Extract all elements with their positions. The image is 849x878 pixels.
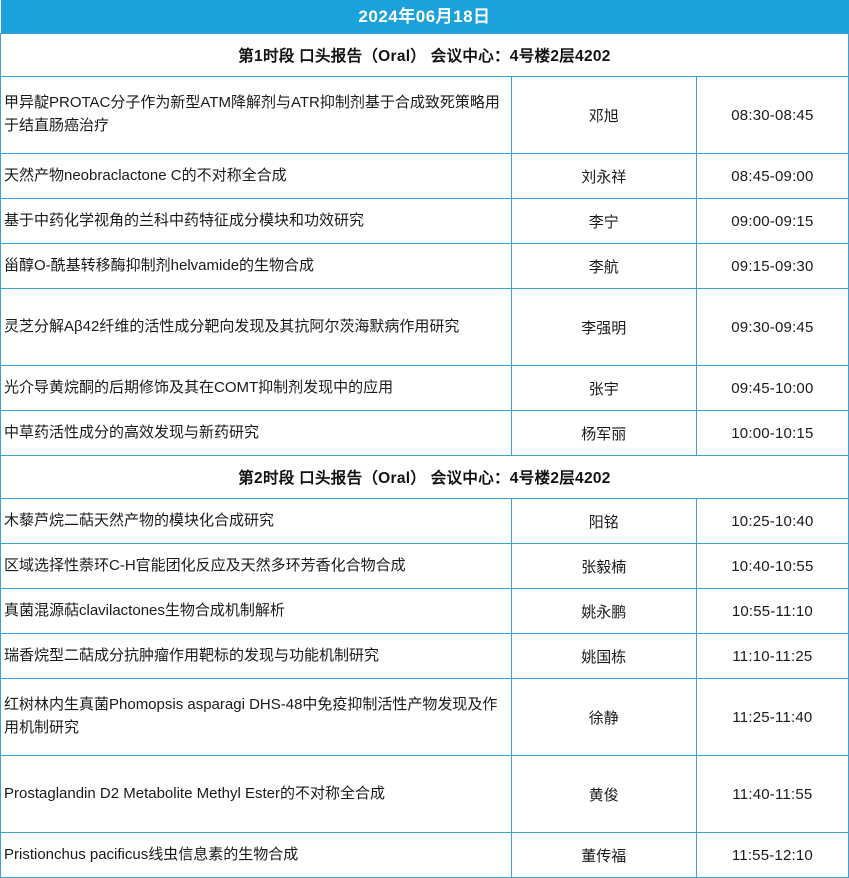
table-row: 灵芝分解Aβ42纤维的活性成分靶向发现及其抗阿尔茨海默病作用研究李强明09:30… — [1, 289, 849, 366]
talk-title-cell: 光介导黄烷酮的后期修饰及其在COMT抑制剂发现中的应用 — [1, 366, 512, 411]
table-row: 甾醇O-酰基转移酶抑制剂helvamide的生物合成李航09:15-09:30 — [1, 244, 849, 289]
table-row: 红树林内生真菌Phomopsis asparagi DHS-48中免疫抑制活性产… — [1, 679, 849, 756]
time-slot-cell: 10:00-10:15 — [696, 411, 848, 456]
talk-title-cell: Pristionchus pacificus线虫信息素的生物合成 — [1, 833, 512, 878]
table-row: 基于中药化学视角的兰科中药特征成分模块和功效研究李宁09:00-09:15 — [1, 199, 849, 244]
speaker-name-cell: 黄俊 — [511, 756, 696, 833]
speaker-name-cell: 姚国栋 — [511, 634, 696, 679]
table-row: 瑞香烷型二萜成分抗肿瘤作用靶标的发现与功能机制研究姚国栋11:10-11:25 — [1, 634, 849, 679]
speaker-name-cell: 邓旭 — [511, 77, 696, 154]
schedule-body: 2024年06月18日 第1时段 口头报告（Oral） 会议中心：4号楼2层42… — [1, 0, 849, 878]
time-slot-cell: 11:55-12:10 — [696, 833, 848, 878]
table-row: 甲异靛PROTAC分子作为新型ATM降解剂与ATR抑制剂基于合成致死策略用于结直… — [1, 77, 849, 154]
speaker-name-cell: 徐静 — [511, 679, 696, 756]
time-slot-cell: 09:45-10:00 — [696, 366, 848, 411]
time-slot-cell: 08:45-09:00 — [696, 154, 848, 199]
talk-title-cell: 真菌混源萜clavilactones生物合成机制解析 — [1, 589, 512, 634]
speaker-name-cell: 李航 — [511, 244, 696, 289]
time-slot-cell: 10:25-10:40 — [696, 499, 848, 544]
date-banner-row: 2024年06月18日 — [1, 0, 849, 34]
table-row: 真菌混源萜clavilactones生物合成机制解析姚永鹏10:55-11:10 — [1, 589, 849, 634]
time-slot-cell: 10:40-10:55 — [696, 544, 848, 589]
talk-title-cell: 瑞香烷型二萜成分抗肿瘤作用靶标的发现与功能机制研究 — [1, 634, 512, 679]
time-slot-cell: 10:55-11:10 — [696, 589, 848, 634]
time-slot-cell: 08:30-08:45 — [696, 77, 848, 154]
talk-title-cell: 灵芝分解Aβ42纤维的活性成分靶向发现及其抗阿尔茨海默病作用研究 — [1, 289, 512, 366]
speaker-name-cell: 姚永鹏 — [511, 589, 696, 634]
talk-title-cell: 中草药活性成分的高效发现与新药研究 — [1, 411, 512, 456]
table-row: 区域选择性萘环C-H官能团化反应及天然多环芳香化合物合成张毅楠10:40-10:… — [1, 544, 849, 589]
time-slot-cell: 09:15-09:30 — [696, 244, 848, 289]
session-header-label: 第1时段 口头报告（Oral） 会议中心：4号楼2层4202 — [1, 34, 849, 77]
speaker-name-cell: 张宇 — [511, 366, 696, 411]
talk-title-cell: 红树林内生真菌Phomopsis asparagi DHS-48中免疫抑制活性产… — [1, 679, 512, 756]
table-row: 光介导黄烷酮的后期修饰及其在COMT抑制剂发现中的应用张宇09:45-10:00 — [1, 366, 849, 411]
table-row: 天然产物neobraclactone C的不对称全合成刘永祥08:45-09:0… — [1, 154, 849, 199]
speaker-name-cell: 张毅楠 — [511, 544, 696, 589]
time-slot-cell: 11:40-11:55 — [696, 756, 848, 833]
talk-title-cell: 甲异靛PROTAC分子作为新型ATM降解剂与ATR抑制剂基于合成致死策略用于结直… — [1, 77, 512, 154]
table-row: 中草药活性成分的高效发现与新药研究杨军丽10:00-10:15 — [1, 411, 849, 456]
time-slot-cell: 11:10-11:25 — [696, 634, 848, 679]
table-row: Pristionchus pacificus线虫信息素的生物合成董传福11:55… — [1, 833, 849, 878]
table-row: 木藜芦烷二萜天然产物的模块化合成研究阳铭10:25-10:40 — [1, 499, 849, 544]
talk-title-cell: 天然产物neobraclactone C的不对称全合成 — [1, 154, 512, 199]
talk-title-cell: 甾醇O-酰基转移酶抑制剂helvamide的生物合成 — [1, 244, 512, 289]
speaker-name-cell: 杨军丽 — [511, 411, 696, 456]
talk-title-cell: 区域选择性萘环C-H官能团化反应及天然多环芳香化合物合成 — [1, 544, 512, 589]
talk-title-cell: Prostaglandin D2 Metabolite Methyl Ester… — [1, 756, 512, 833]
session-header-label: 第2时段 口头报告（Oral） 会议中心：4号楼2层4202 — [1, 456, 849, 499]
speaker-name-cell: 刘永祥 — [511, 154, 696, 199]
conference-schedule-table: 2024年06月18日 第1时段 口头报告（Oral） 会议中心：4号楼2层42… — [0, 0, 849, 878]
speaker-name-cell: 阳铭 — [511, 499, 696, 544]
talk-title-cell: 基于中药化学视角的兰科中药特征成分模块和功效研究 — [1, 199, 512, 244]
table-row: Prostaglandin D2 Metabolite Methyl Ester… — [1, 756, 849, 833]
time-slot-cell: 09:00-09:15 — [696, 199, 848, 244]
session-header-row: 第1时段 口头报告（Oral） 会议中心：4号楼2层4202 — [1, 34, 849, 77]
speaker-name-cell: 李强明 — [511, 289, 696, 366]
speaker-name-cell: 李宁 — [511, 199, 696, 244]
date-banner-cell: 2024年06月18日 — [1, 0, 849, 34]
talk-title-cell: 木藜芦烷二萜天然产物的模块化合成研究 — [1, 499, 512, 544]
time-slot-cell: 09:30-09:45 — [696, 289, 848, 366]
time-slot-cell: 11:25-11:40 — [696, 679, 848, 756]
speaker-name-cell: 董传福 — [511, 833, 696, 878]
session-header-row: 第2时段 口头报告（Oral） 会议中心：4号楼2层4202 — [1, 456, 849, 499]
